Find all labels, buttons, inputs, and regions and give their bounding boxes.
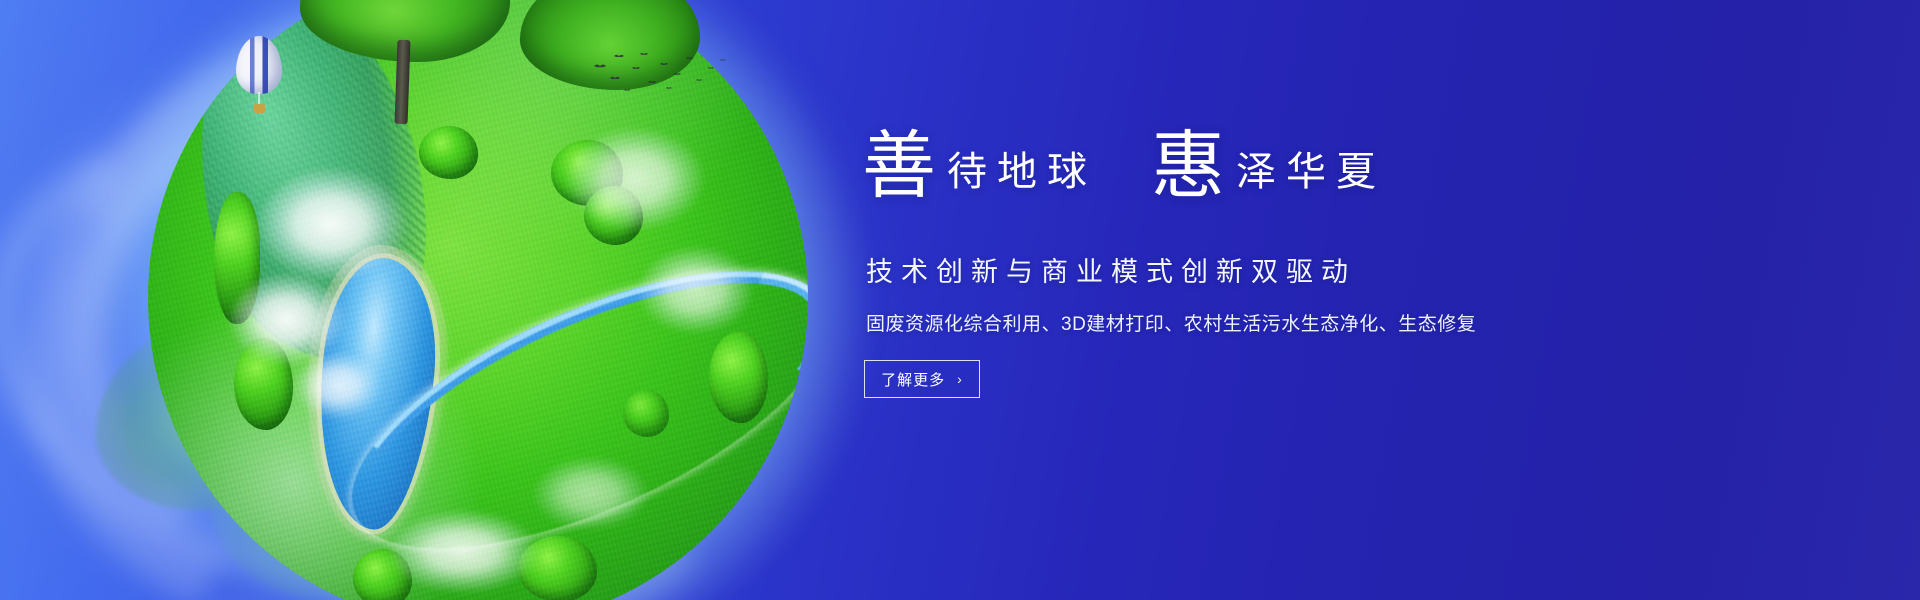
headline-rest-2: 泽华夏 [1236, 152, 1386, 192]
bush-icon [709, 331, 768, 423]
lake-shore [291, 239, 460, 549]
chevron-right-icon: › [957, 372, 963, 386]
balloon-basket [254, 104, 265, 113]
bird-flock-icon [590, 48, 730, 98]
hero-copy: 善 待地球 惠 泽华夏 技术创新与商业模式创新双驱动 固废资源化综合利用、3D建… [862, 130, 1762, 398]
river-band-highlight [315, 215, 808, 600]
cloud-icon [254, 166, 426, 311]
cloud-icon [293, 351, 392, 437]
headline-lead-1: 善 [862, 130, 937, 204]
bush-icon [584, 186, 643, 245]
bush-icon [214, 192, 260, 324]
tree-trunk [395, 40, 411, 124]
river-band [315, 215, 808, 600]
cloud-icon [564, 126, 722, 258]
learn-more-label: 了解更多 [881, 369, 945, 390]
cloud-icon [531, 456, 663, 548]
balloon-envelope [236, 36, 282, 94]
hot-air-balloon-icon [236, 36, 282, 122]
hero-description: 固废资源化综合利用、3D建材打印、农村生活污水生态净化、生态修复 [866, 309, 1762, 336]
cloud-icon [636, 245, 768, 357]
tree-icon [300, 0, 510, 146]
learn-more-button[interactable]: 了解更多 › [864, 360, 980, 398]
hero-subtitle: 技术创新与商业模式创新双驱动 [866, 250, 1762, 289]
headline-lead-2: 惠 [1151, 130, 1226, 204]
bush-icon [551, 140, 624, 206]
bush-icon [518, 536, 597, 600]
hero-banner: 善 待地球 惠 泽华夏 技术创新与商业模式创新双驱动 固废资源化综合利用、3D建… [0, 0, 1920, 600]
cloud-icon [227, 272, 359, 391]
bush-icon [623, 390, 669, 436]
cloud-icon [386, 509, 558, 600]
bush-icon [353, 549, 412, 600]
lake-icon [306, 253, 446, 534]
river-icon [333, 311, 808, 509]
bush-icon [234, 338, 293, 430]
headline-rest-1: 待地球 [947, 152, 1097, 192]
page-title: 善 待地球 惠 泽华夏 [862, 130, 1762, 222]
